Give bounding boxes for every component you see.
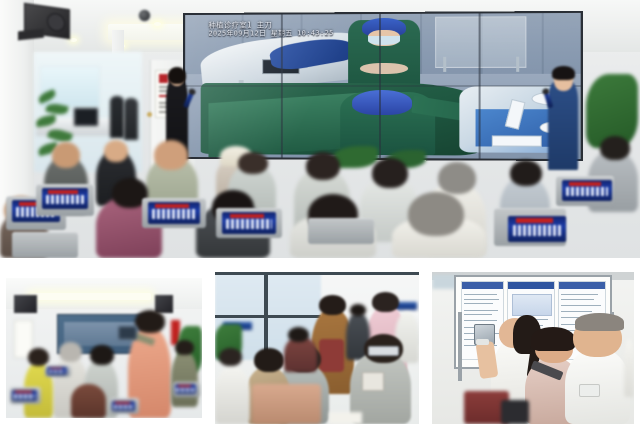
audience-head: [104, 140, 128, 162]
audience-head: [59, 342, 83, 362]
bottom-left-photo: [6, 278, 202, 418]
chair-row[interactable]: [252, 384, 321, 424]
audience-head: [90, 345, 114, 365]
audience-head: [408, 192, 464, 236]
audience-member: [171, 351, 198, 407]
handbag-icon: [319, 339, 343, 372]
ceiling-downlight-icon: [70, 38, 77, 42]
osd-timestamp: 2025年09月12日 星期五 10:43:25: [208, 30, 333, 39]
attendee-hair: [531, 327, 575, 351]
wristwatch-icon: [476, 339, 488, 345]
host-male-scrubs: [548, 82, 578, 170]
top-main-photo: 种植诊疗室1 主刀 2025年09月12日 星期五 10:43:25: [0, 0, 640, 258]
security-camera-icon: [138, 9, 151, 22]
host-female-hair: [168, 67, 186, 84]
ceiling-light-cove: [30, 293, 152, 300]
bag: [501, 400, 529, 424]
ceiling-speaker-icon: [14, 295, 38, 313]
window-mullion: [215, 272, 419, 275]
audience-head: [238, 152, 268, 174]
chair-ad-panel: [562, 180, 612, 201]
led-video-wall: 种植诊疗室1 主刀 2025年09月12日 星期五 10:43:25: [183, 11, 583, 161]
audience-head: [510, 160, 542, 186]
audience-head: [175, 340, 195, 355]
surgical-cap: [352, 90, 411, 115]
audience-member: [71, 384, 106, 418]
chair-ad-panel: [175, 384, 197, 394]
attendee-head: [135, 310, 164, 332]
audience-head: [28, 348, 50, 366]
audience-head: [600, 136, 630, 160]
whiteboard-stand: [458, 312, 462, 382]
shirt-logo: [579, 384, 599, 397]
surgical-mask: [368, 36, 400, 45]
chair-ad-panel: [112, 401, 136, 411]
audience-head: [154, 140, 188, 170]
equipment-cart: [436, 16, 526, 68]
chair-ad-panel: [222, 212, 276, 234]
audience-head: [372, 158, 408, 188]
chair-ad-panel: [42, 188, 88, 209]
door-handle[interactable]: [147, 112, 152, 117]
host-male-hair: [552, 66, 575, 80]
attendee-head: [254, 348, 285, 372]
staff-silhouette: [110, 96, 124, 138]
waiting-chair[interactable]: [308, 218, 374, 244]
attendee-head: [219, 348, 241, 366]
bottom-right-photo: [432, 272, 634, 424]
chair-ad-panel: [148, 202, 200, 224]
chair-ad-panel: [12, 390, 37, 401]
ceiling-downlight-icon: [154, 22, 161, 26]
attendee-head: [319, 295, 346, 315]
seated-attendee: [215, 366, 250, 424]
waiting-chair[interactable]: [12, 232, 78, 258]
phone-icon[interactable]: [362, 372, 384, 391]
bottom-middle-photo: [215, 272, 419, 424]
audience-head: [438, 162, 476, 194]
attendee-head: [288, 327, 308, 342]
attendee-hair: [575, 313, 623, 331]
reception-monitor: [74, 108, 98, 126]
window-mullion: [215, 315, 321, 318]
tote-bag: [329, 412, 362, 424]
attendee-partial: [624, 339, 634, 397]
attendee-head: [372, 292, 399, 312]
eyeglasses-icon: [368, 346, 399, 356]
audience-head: [52, 142, 80, 168]
audience-head: [306, 152, 340, 180]
photo-collage: 种植诊疗室1 主刀 2025年09月12日 星期五 10:43:25: [0, 0, 640, 424]
staff-silhouette: [124, 98, 138, 140]
broadcast-osd: 种植诊疗室1 主刀 2025年09月12日 星期五 10:43:25: [208, 20, 333, 39]
phone-icon[interactable]: [118, 326, 138, 341]
attendee-head: [350, 304, 366, 316]
ceiling-speaker-icon: [155, 295, 173, 313]
chair-ad-panel: [47, 367, 67, 375]
chair-ad-panel: [508, 216, 566, 242]
